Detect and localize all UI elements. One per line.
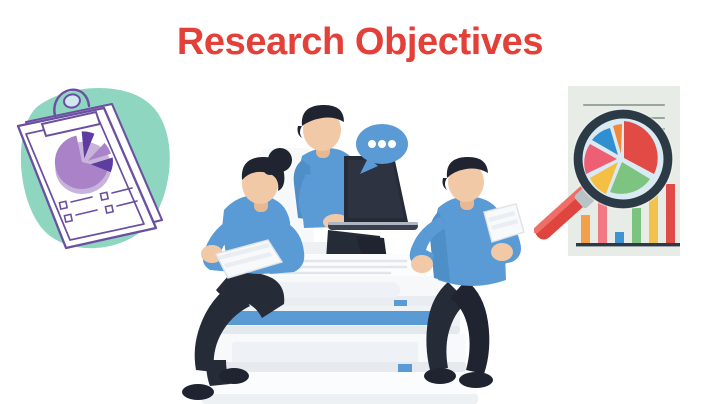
bar-1 (581, 215, 590, 243)
magnifier-lens (573, 109, 673, 209)
speech-dot (378, 140, 386, 148)
book-2-spine (224, 311, 436, 325)
bar-5 (649, 195, 658, 243)
bar-4 (632, 208, 641, 243)
people-and-books-illustration (150, 104, 570, 404)
bar-6 (666, 184, 675, 243)
bar-baseline (576, 243, 680, 246)
walking-man-shoe (424, 368, 456, 384)
book-3-label (232, 342, 418, 364)
bar-3 (615, 232, 624, 243)
speech-dot (368, 140, 376, 148)
illustration-canvas: Research Objectives (0, 0, 720, 404)
woman-shoe (219, 368, 249, 384)
woman-shoe (182, 384, 214, 400)
walking-man-shoe (459, 372, 493, 388)
page-title: Research Objectives (0, 22, 720, 64)
speech-dot (388, 140, 396, 148)
